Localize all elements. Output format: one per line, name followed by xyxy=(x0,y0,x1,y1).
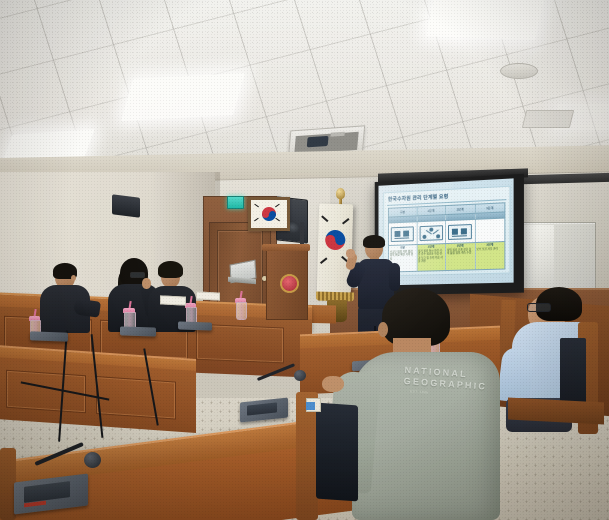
paper-sheet xyxy=(196,291,220,300)
slide-column-header: 3단계 xyxy=(475,203,504,212)
drink-cup xyxy=(186,303,195,323)
ear xyxy=(378,322,388,337)
microphone-head xyxy=(84,452,101,468)
hair xyxy=(363,235,385,248)
slide-body-cell-text: 소규모 점검 기본 점검 항목 현장 확인 기록 유지 xyxy=(390,250,413,260)
conference-microphone[interactable] xyxy=(178,321,212,330)
slide-diagram-cell xyxy=(389,222,417,245)
process-diagram-icon xyxy=(448,223,472,239)
hand xyxy=(142,278,151,289)
network-diagram-icon xyxy=(419,225,442,241)
hair xyxy=(158,261,183,278)
paper-sheet xyxy=(160,295,186,305)
trigram-mark xyxy=(321,215,328,222)
cup-body xyxy=(236,302,247,320)
podium-emblem-icon xyxy=(280,274,299,293)
flag-finial xyxy=(336,188,345,199)
conference-microphone[interactable] xyxy=(120,326,156,336)
ceiling-air-vent xyxy=(522,110,574,128)
slide-body-cell: 3단계 보수 보강 사후 관리 xyxy=(475,242,504,269)
slide-body-cell-text: 정밀 점검 단계 전문 장비 활용 정밀 계측 수행 xyxy=(447,248,471,255)
slide-column-header: 구분 xyxy=(389,207,417,216)
conference-microphone[interactable] xyxy=(30,331,68,341)
trigram-mark xyxy=(275,204,280,208)
slide-diagram-cell xyxy=(446,220,475,243)
ceiling-round-diffuser xyxy=(500,63,538,79)
chair-label-sticker xyxy=(306,402,315,410)
slide-diagram-cell-empty xyxy=(475,219,504,242)
drink-cup xyxy=(236,298,245,318)
chair-cushion xyxy=(316,403,358,502)
ceiling-light-panel xyxy=(121,73,245,121)
right-arm xyxy=(389,263,400,291)
process-diagram-icon xyxy=(391,226,414,242)
trigram-mark xyxy=(320,257,328,264)
glasses-icon xyxy=(130,272,145,278)
taeguk-symbol-icon xyxy=(325,230,346,251)
slide-column-header: 2단계 xyxy=(446,205,475,214)
slide-table: 구분 1단계 2단계 3단계 xyxy=(388,202,505,272)
projector-lens xyxy=(307,136,329,148)
microphone-head xyxy=(294,370,306,381)
slide-body-cell-text: 보수 보강 사후 관리 xyxy=(476,248,498,252)
glasses-icon xyxy=(527,303,551,312)
framed-korean-flag xyxy=(248,197,290,231)
slide-body-cell-text: 정기 점검 실시 안전 기준 준수 점검표 작성 결과 보고 및 조치 미흡 사… xyxy=(418,249,443,262)
slide-table-body-row: 구분 소규모 점검 기본 점검 항목 현장 확인 기록 유지 1단계 정기 점검… xyxy=(389,242,504,271)
presentation-slide: 한국수자원 관리 단계별 요령 구분 1단계 2단계 3단계 xyxy=(383,186,510,277)
hand xyxy=(322,376,344,392)
podium-top xyxy=(262,244,310,251)
exit-sign-icon xyxy=(227,196,244,209)
ceiling-light-panel xyxy=(426,0,544,40)
trigram-mark xyxy=(342,218,350,225)
wall-speaker-icon xyxy=(112,194,140,217)
ear xyxy=(71,275,76,281)
conference-room-photo: 한국수자원 관리 단계별 요령 구분 1단계 2단계 3단계 xyxy=(0,0,609,520)
trigram-mark xyxy=(275,218,280,222)
slide-column-header: 1단계 xyxy=(417,206,446,215)
trigram-mark xyxy=(254,204,259,208)
taeguk-symbol-icon xyxy=(262,207,276,221)
trigram-mark xyxy=(254,218,259,222)
slide-body-cell: 1단계 정기 점검 실시 안전 기준 준수 점검표 작성 결과 보고 및 조치 … xyxy=(417,244,446,271)
arm xyxy=(497,346,535,403)
slide-body-cell: 2단계 정밀 점검 단계 전문 장비 활용 정밀 계측 수행 xyxy=(446,243,475,270)
slide-diagram-cell xyxy=(417,221,446,244)
left-hand xyxy=(346,249,355,258)
